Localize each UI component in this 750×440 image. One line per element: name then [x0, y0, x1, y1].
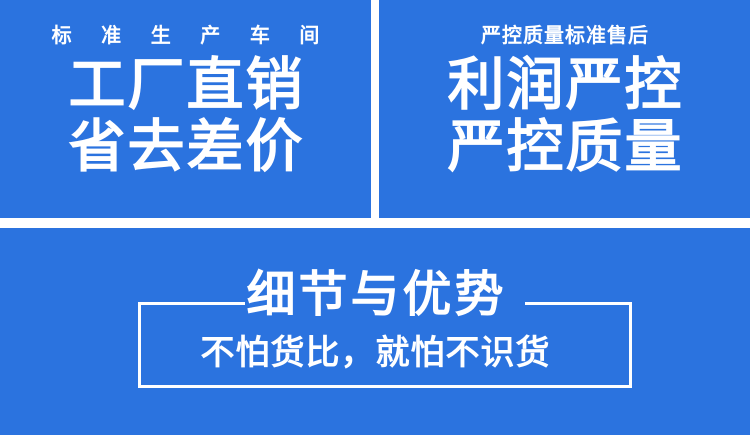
top-panel-row: 标 准 生 产 车 间 工厂直销 省去差价 严控质量标准售后 利润严控 严控质量	[0, 0, 750, 218]
panel-quality-control-eyebrow: 严控质量标准售后	[480, 26, 649, 46]
details-title: 细节与优势	[0, 268, 750, 323]
promo-banner: 标 准 生 产 车 间 工厂直销 省去差价 严控质量标准售后 利润严控 严控质量…	[0, 0, 750, 440]
panel-quality-control-headline-line2: 严控质量	[446, 116, 684, 178]
panel-factory-direct-headline-line2: 省去差价	[67, 116, 305, 178]
panel-details-advantages: 细节与优势 不怕货比，就怕不识货	[0, 228, 750, 435]
details-subtitle: 不怕货比，就怕不识货	[0, 332, 750, 374]
panel-quality-control-headline-line1: 利润严控	[446, 54, 684, 116]
panel-factory-direct: 标 准 生 产 车 间 工厂直销 省去差价	[0, 0, 371, 218]
panel-quality-control: 严控质量标准售后 利润严控 严控质量	[379, 0, 750, 218]
panel-factory-direct-headline-line1: 工厂直销	[67, 54, 305, 116]
panel-factory-direct-eyebrow: 标 准 生 产 车 间	[40, 26, 332, 46]
